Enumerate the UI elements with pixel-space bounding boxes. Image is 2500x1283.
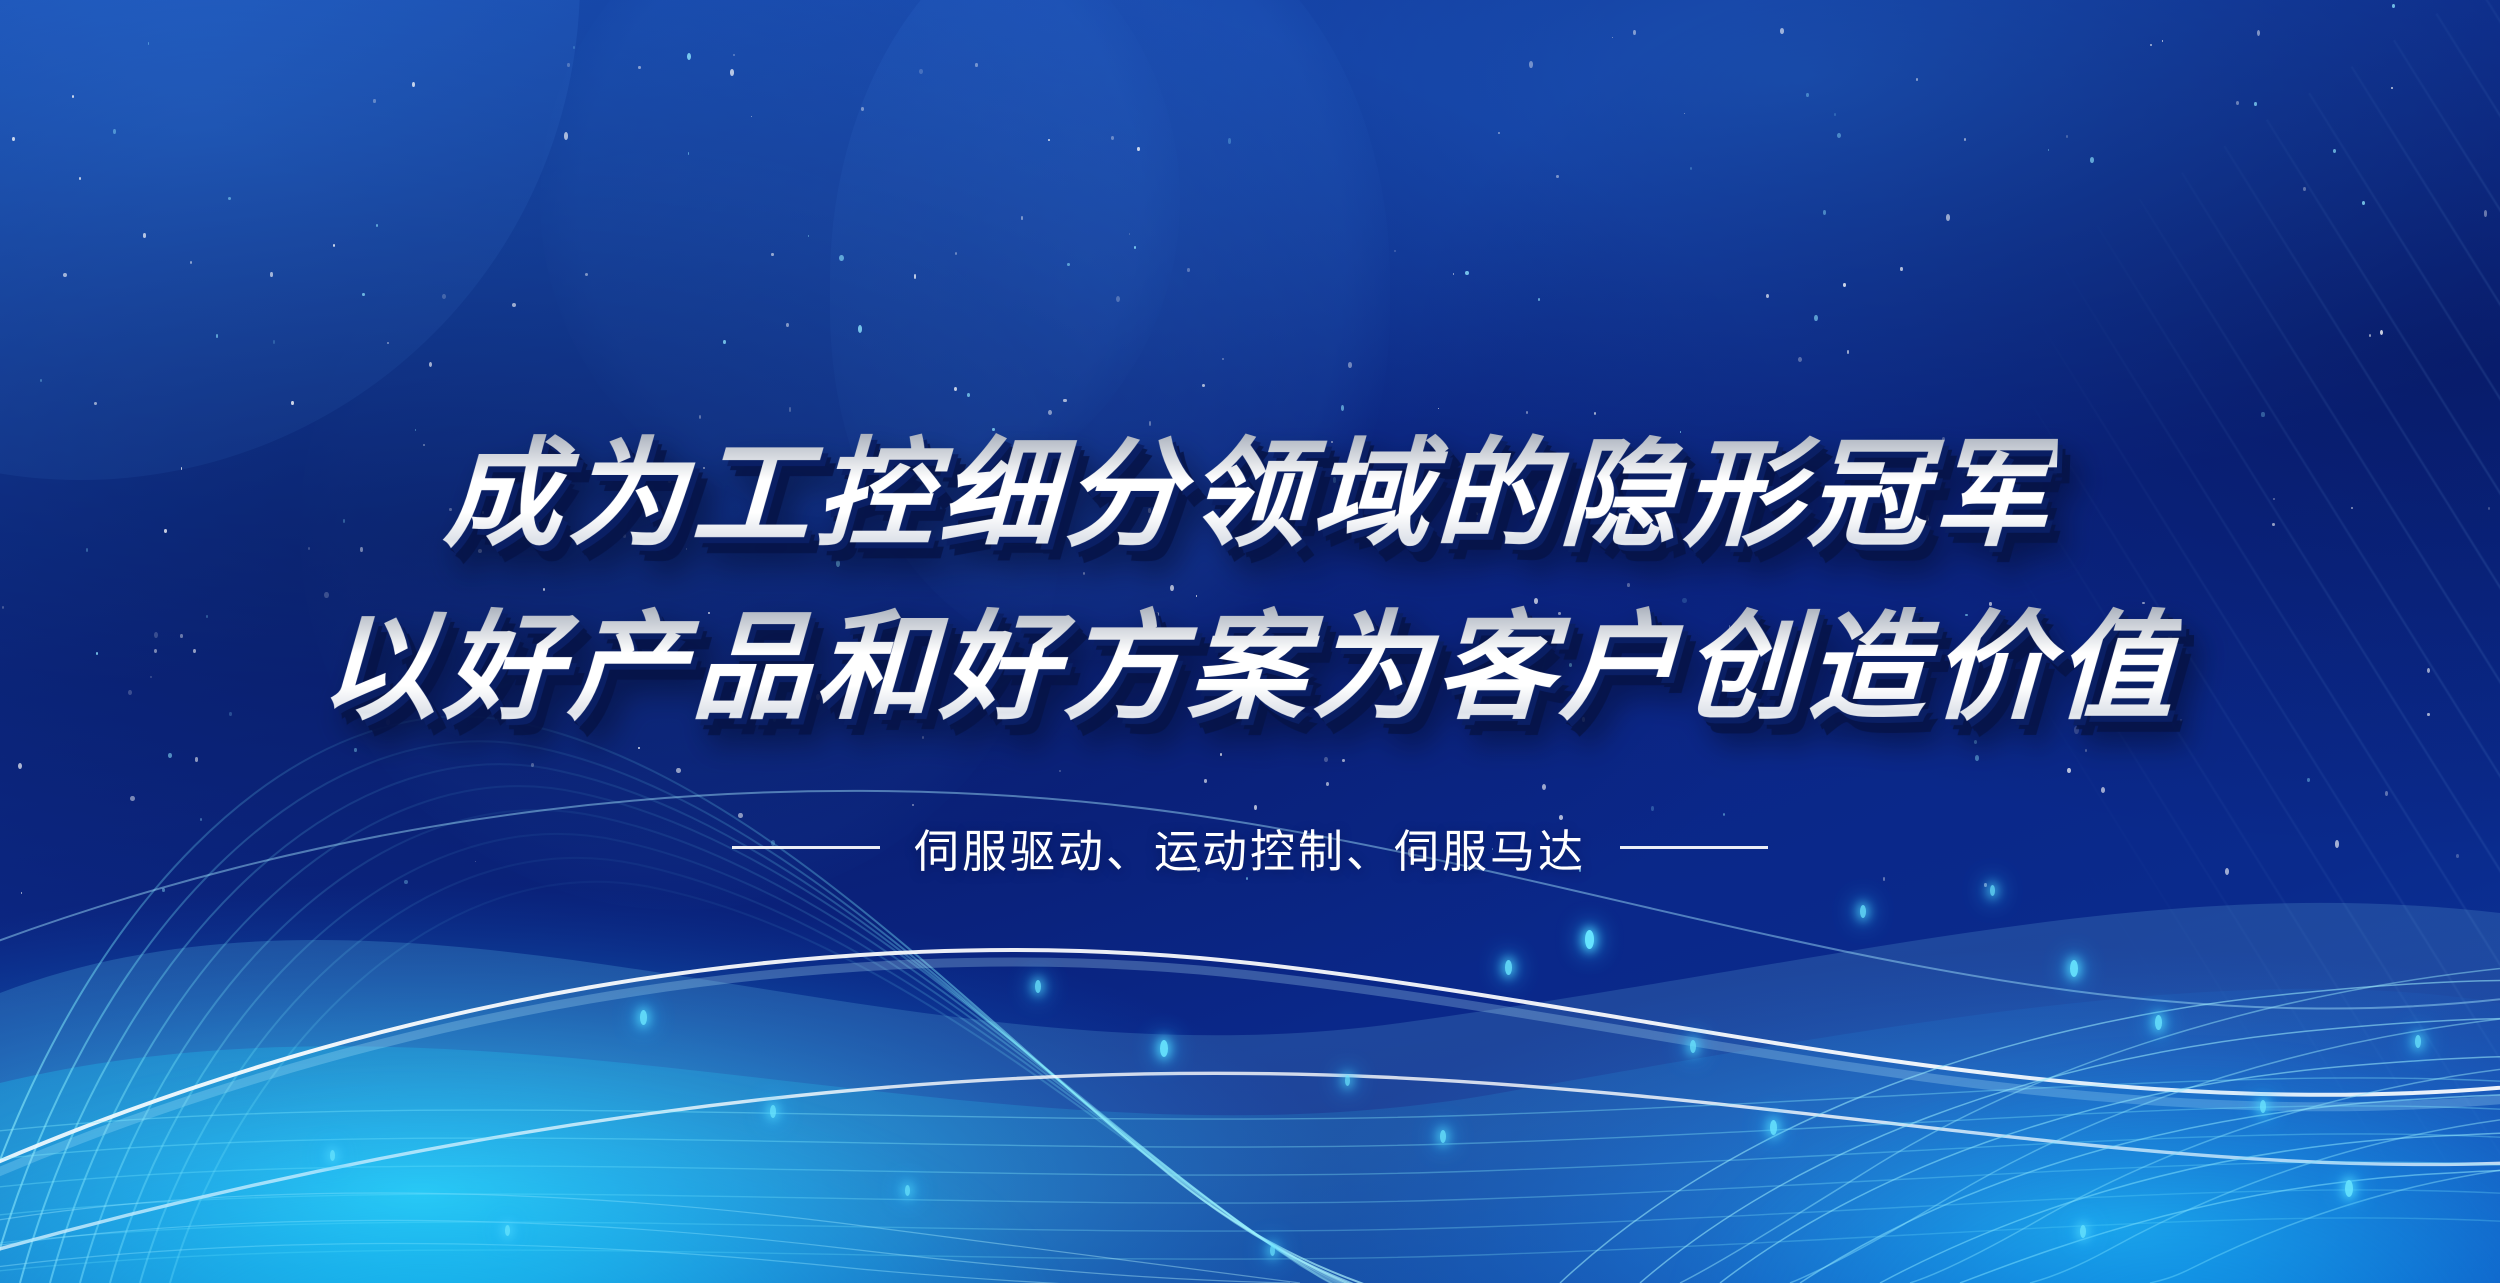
subtitle-row: 伺服驱动、运动控制、伺服马达 bbox=[732, 815, 1768, 880]
subtitle-rule-left bbox=[732, 846, 880, 849]
subtitle-text: 伺服驱动、运动控制、伺服马达 bbox=[914, 815, 1586, 880]
banner-content: 成为工控细分领域的隐形冠军 以好产品和好方案为客户创造价值 伺服驱动、运动控制、… bbox=[0, 0, 2500, 1283]
headline-line-1: 成为工控细分领域的隐形冠军 bbox=[441, 420, 2058, 569]
hero-banner: 成为工控细分领域的隐形冠军 以好产品和好方案为客户创造价值 伺服驱动、运动控制、… bbox=[0, 0, 2500, 1283]
headline-line-2: 以好产品和好方案为客户创造价值 bbox=[317, 593, 2182, 742]
subtitle-rule-right bbox=[1620, 846, 1768, 849]
